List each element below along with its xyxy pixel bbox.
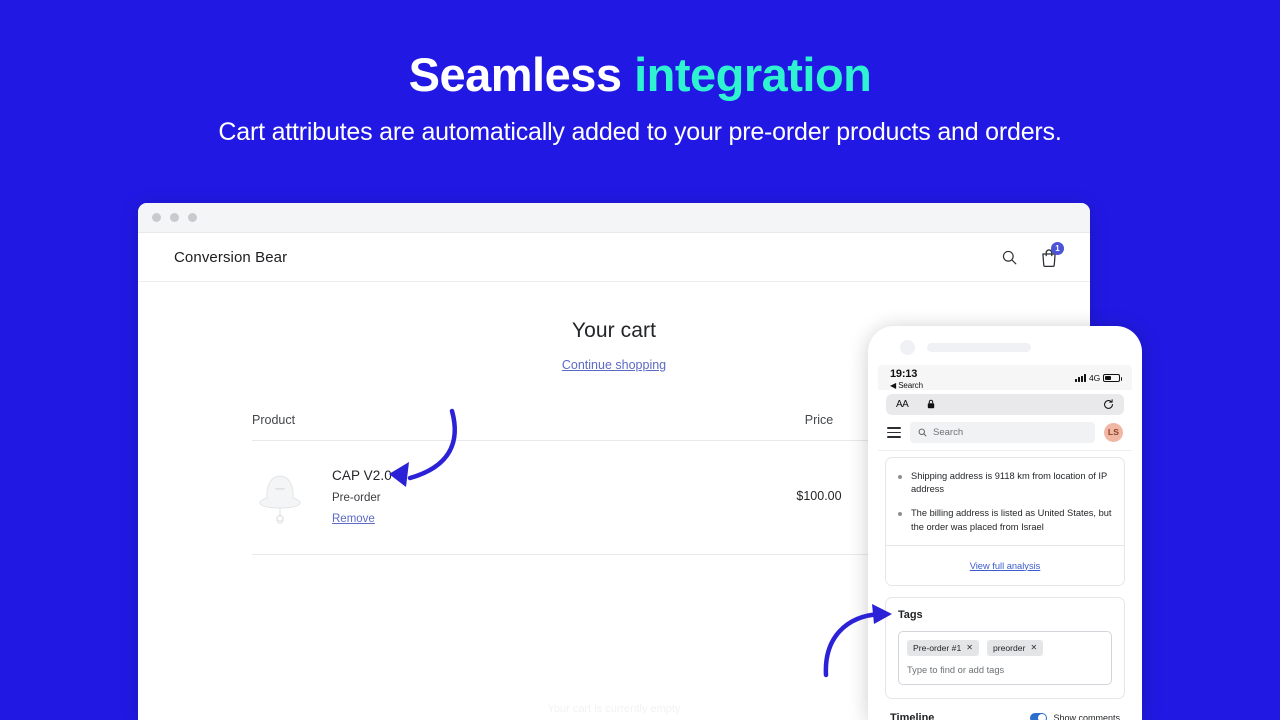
phone-mockup: 19:13 ◀ Search 4G AA <box>868 326 1142 720</box>
timeline-title: Timeline <box>890 712 934 720</box>
phone-speaker <box>927 343 1031 352</box>
bullet-dot-icon <box>898 512 902 516</box>
shopping-bag-icon[interactable]: 1 <box>1040 248 1058 267</box>
hero-title-plain: Seamless <box>409 48 634 101</box>
tag-chip-label: preorder <box>993 643 1025 653</box>
ios-status-bar: 19:13 ◀ Search 4G <box>878 365 1132 390</box>
tags-title: Tags <box>898 609 1112 621</box>
browser-titlebar <box>138 203 1090 233</box>
fraud-analysis-card: Shipping address is 9118 km from locatio… <box>885 457 1125 586</box>
show-comments-label: Show comments <box>1053 713 1120 720</box>
hero-title-accent: integration <box>634 48 871 101</box>
phone-camera <box>900 340 915 355</box>
promo-banner: Seamless integration Cart attributes are… <box>0 0 1280 720</box>
bullet-dot-icon <box>898 475 902 479</box>
avatar[interactable]: LS <box>1104 423 1123 442</box>
status-right: 4G <box>1075 369 1120 383</box>
window-maximize-dot[interactable] <box>188 213 197 222</box>
text-size-icon[interactable]: AA <box>896 399 908 410</box>
product-title[interactable]: CAP V2.0 <box>332 468 392 483</box>
close-icon[interactable]: ✕ <box>1030 644 1037 652</box>
product-info: CAP V2.0 Pre-order Remove <box>332 464 392 527</box>
view-full-analysis-link[interactable]: View full analysis <box>970 561 1041 571</box>
fraud-card-footer: View full analysis <box>886 546 1124 585</box>
store-header: Conversion Bear 1 <box>138 233 1090 282</box>
fraud-bullet-text: The billing address is listed as United … <box>911 507 1112 533</box>
show-comments-toggle[interactable] <box>1030 713 1047 720</box>
fraud-bullet-text: Shipping address is 9118 km from locatio… <box>911 470 1112 496</box>
fraud-bullet-list: Shipping address is 9118 km from locatio… <box>886 458 1124 545</box>
lock-icon <box>927 399 935 409</box>
tag-chip-list: Pre-order #1 ✕ preorder ✕ <box>907 640 1103 656</box>
tags-text-input[interactable]: Type to find or add tags <box>907 665 1103 675</box>
phone-notch <box>878 338 1132 365</box>
network-type-label: 4G <box>1089 373 1100 383</box>
search-input[interactable]: Search <box>910 422 1095 443</box>
admin-top-bar: Search LS <box>878 415 1132 451</box>
list-item: Shipping address is 9118 km from locatio… <box>898 470 1112 496</box>
product-thumbnail-bucket-hat[interactable] <box>252 464 308 526</box>
status-left: 19:13 ◀ Search <box>890 369 923 390</box>
search-placeholder: Search <box>933 427 963 438</box>
status-time: 19:13 <box>890 369 923 381</box>
search-icon <box>918 428 927 437</box>
signal-bars-icon <box>1075 374 1086 382</box>
safari-url-bar[interactable]: AA <box>886 394 1124 415</box>
close-icon[interactable]: ✕ <box>966 644 973 652</box>
window-minimize-dot[interactable] <box>170 213 179 222</box>
reload-icon[interactable] <box>1103 399 1114 410</box>
hero-subtitle: Cart attributes are automatically added … <box>0 118 1280 147</box>
tag-chip-label: Pre-order #1 <box>913 643 961 653</box>
tags-card: Tags Pre-order #1 ✕ preorder ✕ Type to f… <box>885 597 1125 699</box>
tags-input-box[interactable]: Pre-order #1 ✕ preorder ✕ Type to find o… <box>898 631 1112 685</box>
window-close-dot[interactable] <box>152 213 161 222</box>
battery-icon <box>1103 374 1120 383</box>
column-header-product: Product <box>252 413 744 427</box>
back-to-search-label[interactable]: ◀ Search <box>890 382 923 390</box>
phone-screen: 19:13 ◀ Search 4G AA <box>878 365 1132 720</box>
list-item: The billing address is listed as United … <box>898 507 1112 533</box>
store-name: Conversion Bear <box>174 249 287 266</box>
store-header-actions: 1 <box>1001 248 1058 267</box>
timeline-header: Timeline Show comments <box>890 712 1120 720</box>
cart-count-badge: 1 <box>1051 242 1064 255</box>
timeline-toggle-group[interactable]: Show comments <box>1030 713 1120 720</box>
tag-chip[interactable]: preorder ✕ <box>987 640 1043 656</box>
product-cell: CAP V2.0 Pre-order Remove <box>252 464 744 527</box>
hamburger-menu-icon[interactable] <box>887 427 901 438</box>
tag-chip[interactable]: Pre-order #1 ✕ <box>907 640 979 656</box>
search-icon[interactable] <box>1001 249 1018 266</box>
hero-title: Seamless integration <box>0 50 1280 99</box>
product-variant-preorder: Pre-order <box>332 492 392 504</box>
remove-item-link[interactable]: Remove <box>332 513 375 525</box>
